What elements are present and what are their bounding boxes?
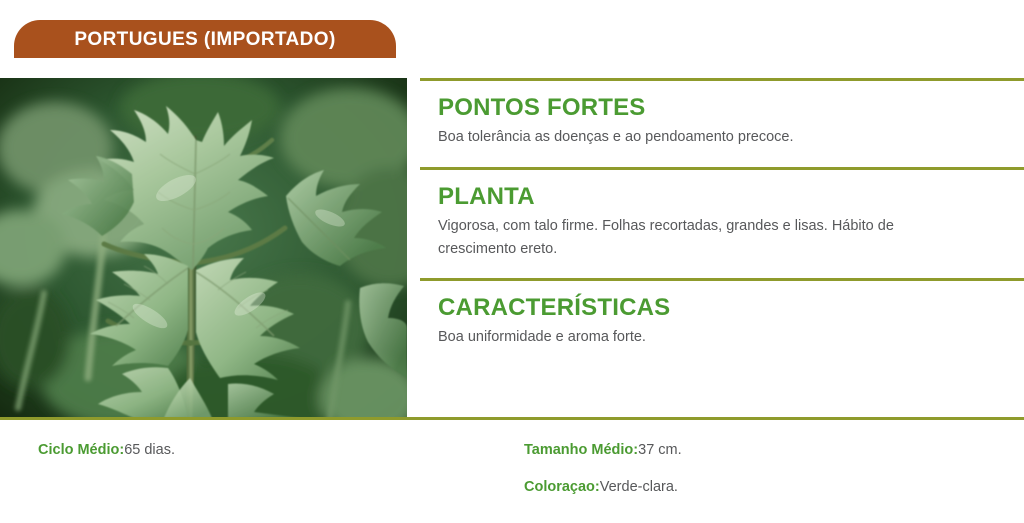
spec-ciclo-medio: Ciclo Médio:65 dias. <box>38 440 498 462</box>
specs-column-right: Tamanho Médio:37 cm. Coloraçao:Verde-cla… <box>524 440 1004 514</box>
spec-label: Tamanho Médio: <box>524 442 638 458</box>
section-heading: PONTOS FORTES <box>438 95 1024 121</box>
plant-photo <box>0 78 407 418</box>
spec-label: Coloraçao: <box>524 479 600 495</box>
section-body: Boa uniformidade e aroma forte. <box>438 326 958 348</box>
product-card: PORTUGUES (IMPORTADO) <box>0 0 1024 523</box>
section-heading: PLANTA <box>438 184 1024 210</box>
details-column: PONTOS FORTES Boa tolerância as doenças … <box>420 78 1024 418</box>
section-pontos-fortes: PONTOS FORTES Boa tolerância as doenças … <box>420 81 1024 167</box>
specs-column-left: Ciclo Médio:65 dias. <box>38 440 498 477</box>
spec-value: 37 cm. <box>638 442 682 458</box>
variety-name-label: PORTUGUES (IMPORTADO) <box>74 30 335 49</box>
section-body: Vigorosa, com talo firme. Folhas recorta… <box>438 215 958 260</box>
section-planta: PLANTA Vigorosa, com talo firme. Folhas … <box>420 170 1024 278</box>
spec-value: 65 dias. <box>124 442 175 458</box>
spec-label: Ciclo Médio: <box>38 442 124 458</box>
spec-tamanho-medio: Tamanho Médio:37 cm. <box>524 440 1004 462</box>
leaf-photo-icon <box>0 78 407 418</box>
specs-footer: Ciclo Médio:65 dias. Tamanho Médio:37 cm… <box>0 420 1024 523</box>
section-caracteristicas: CARACTERÍSTICAS Boa uniformidade e aroma… <box>420 281 1024 361</box>
section-heading: CARACTERÍSTICAS <box>438 295 1024 321</box>
spec-value: Verde-clara. <box>600 479 678 495</box>
variety-name-banner: PORTUGUES (IMPORTADO) <box>14 20 396 58</box>
spec-coloracao: Coloraçao:Verde-clara. <box>524 477 1004 499</box>
section-body: Boa tolerância as doenças e ao pendoamen… <box>438 126 958 148</box>
